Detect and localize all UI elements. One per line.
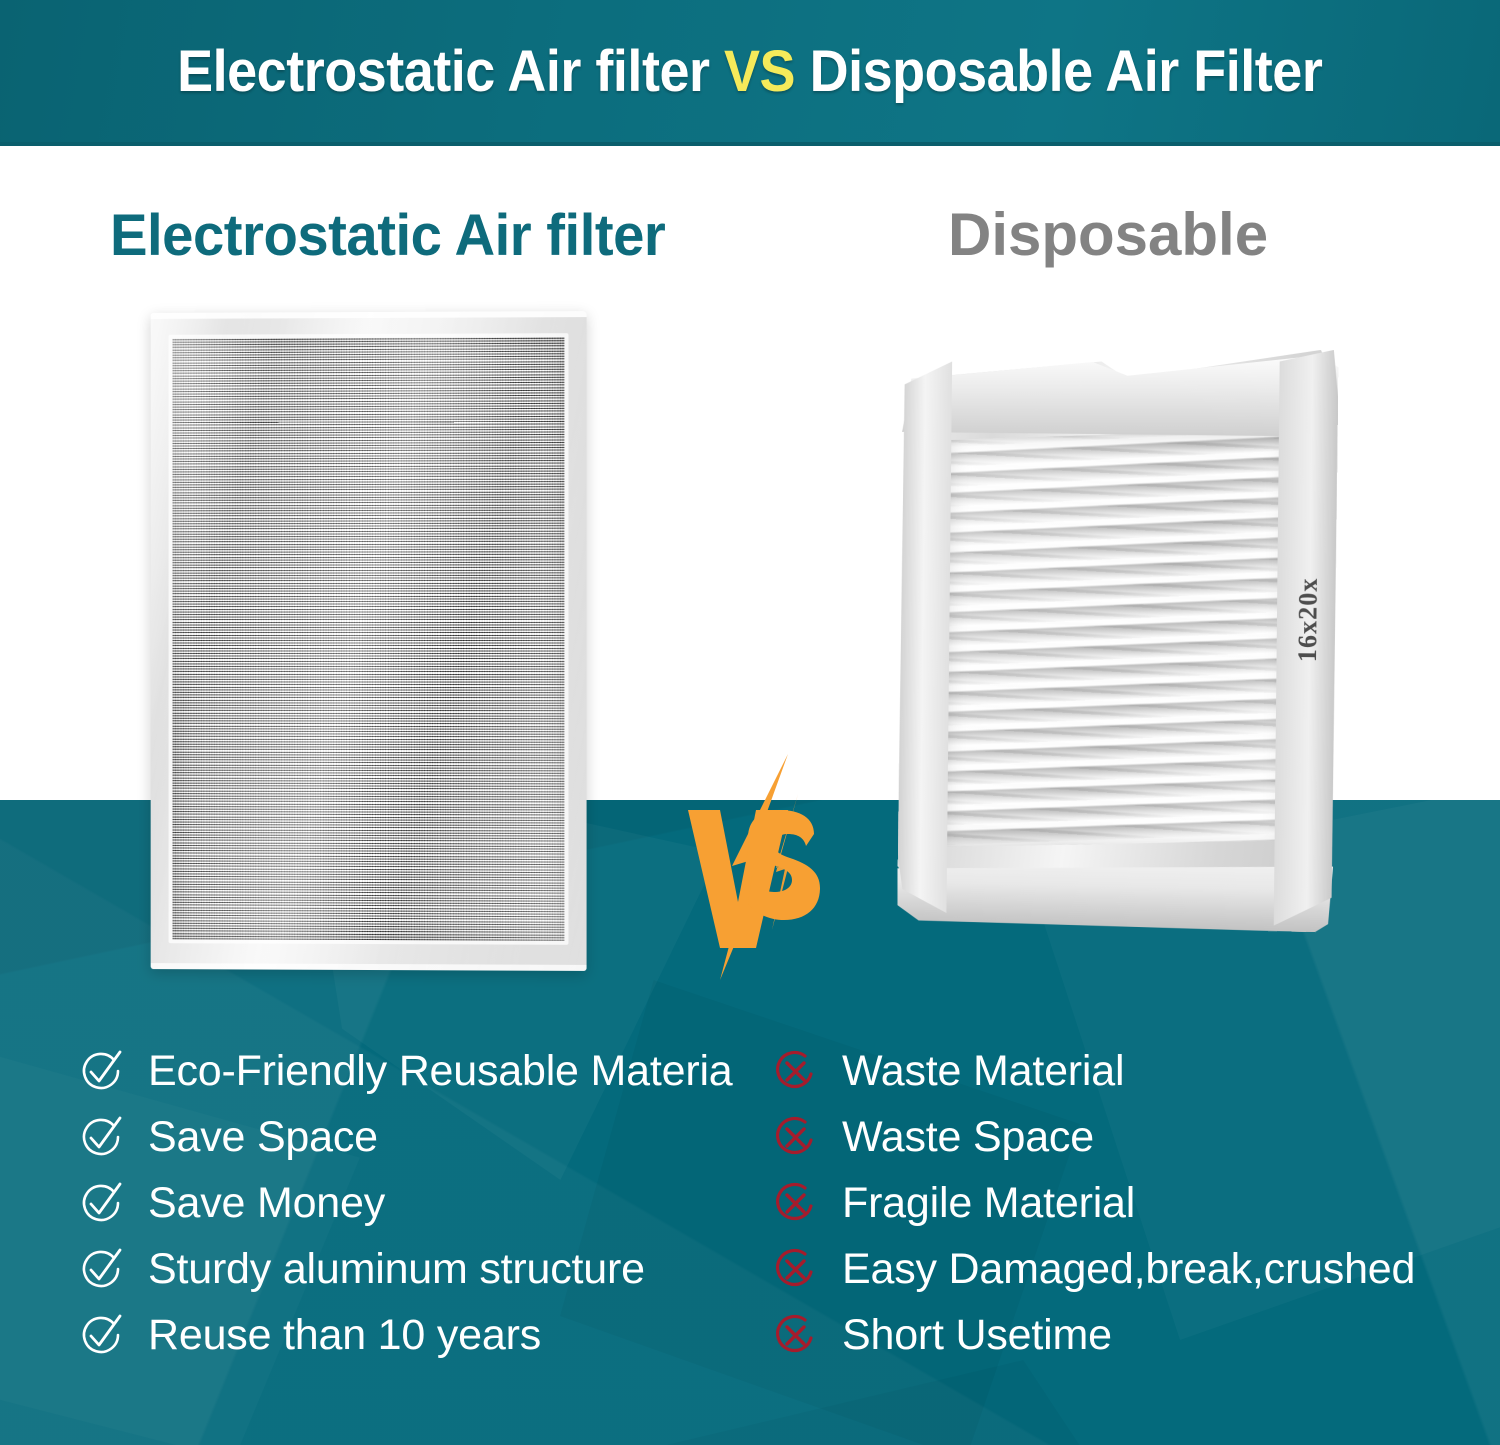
electrostatic-filter-image bbox=[151, 311, 587, 971]
x-circle-icon bbox=[772, 1180, 818, 1226]
list-item-label: Sturdy aluminum structure bbox=[148, 1248, 645, 1291]
list-item-label: Easy Damaged,break,crushed bbox=[842, 1248, 1415, 1291]
list-item-label: Short Usetime bbox=[842, 1314, 1112, 1357]
list-item: Eco-Friendly Reusable Materia bbox=[78, 1038, 768, 1104]
check-circle-icon bbox=[78, 1048, 124, 1094]
fiberglass-media-texture bbox=[939, 428, 1293, 854]
header-title-vs: VS bbox=[724, 39, 795, 104]
list-item: Short Usetime bbox=[772, 1302, 1472, 1368]
header-banner: Electrostatic Air filter VS Disposable A… bbox=[0, 0, 1500, 146]
cardboard-frame-top bbox=[902, 350, 1338, 437]
list-item-label: Fragile Material bbox=[842, 1182, 1135, 1225]
header-title-part2: Disposable Air Filter bbox=[795, 39, 1322, 104]
check-circle-icon bbox=[78, 1180, 124, 1226]
list-item-label: Save Money bbox=[148, 1182, 385, 1225]
cardboard-frame-left bbox=[897, 350, 952, 924]
cons-list: Waste Material Waste Space Fragile Mater… bbox=[772, 1038, 1472, 1368]
list-item: Waste Space bbox=[772, 1104, 1472, 1170]
list-item: Sturdy aluminum structure bbox=[78, 1236, 768, 1302]
aluminum-mesh-texture bbox=[173, 337, 565, 941]
list-item: Save Money bbox=[78, 1170, 768, 1236]
header-title-part1: Electrostatic Air filter bbox=[177, 39, 724, 104]
list-item-label: Reuse than 10 years bbox=[148, 1314, 541, 1357]
panel-title-disposable: Disposable bbox=[948, 200, 1268, 269]
disposable-filter-image: 16x20x bbox=[897, 350, 1338, 933]
list-item-label: Waste Space bbox=[842, 1116, 1094, 1159]
list-item: Waste Material bbox=[772, 1038, 1472, 1104]
infographic-page: Electrostatic Air filter VS Disposable A… bbox=[0, 0, 1500, 1445]
list-item-label: Waste Material bbox=[842, 1050, 1124, 1093]
list-item-label: Save Space bbox=[148, 1116, 378, 1159]
vs-badge bbox=[676, 752, 836, 982]
list-item-label: Eco-Friendly Reusable Materia bbox=[148, 1050, 733, 1093]
header-title: Electrostatic Air filter VS Disposable A… bbox=[177, 38, 1322, 105]
check-circle-icon bbox=[78, 1246, 124, 1292]
x-circle-icon bbox=[772, 1114, 818, 1160]
x-circle-icon bbox=[772, 1048, 818, 1094]
x-circle-icon bbox=[772, 1246, 818, 1292]
check-circle-icon bbox=[78, 1312, 124, 1358]
panel-title-electrostatic: Electrostatic Air filter bbox=[110, 202, 665, 269]
list-item: Easy Damaged,break,crushed bbox=[772, 1236, 1472, 1302]
check-circle-icon bbox=[78, 1114, 124, 1160]
x-circle-icon bbox=[772, 1312, 818, 1358]
filter-size-label: 16x20x bbox=[1293, 577, 1324, 662]
list-item: Save Space bbox=[78, 1104, 768, 1170]
list-item: Fragile Material bbox=[772, 1170, 1472, 1236]
pros-list: Eco-Friendly Reusable Materia Save Space… bbox=[78, 1038, 768, 1368]
list-item: Reuse than 10 years bbox=[78, 1302, 768, 1368]
